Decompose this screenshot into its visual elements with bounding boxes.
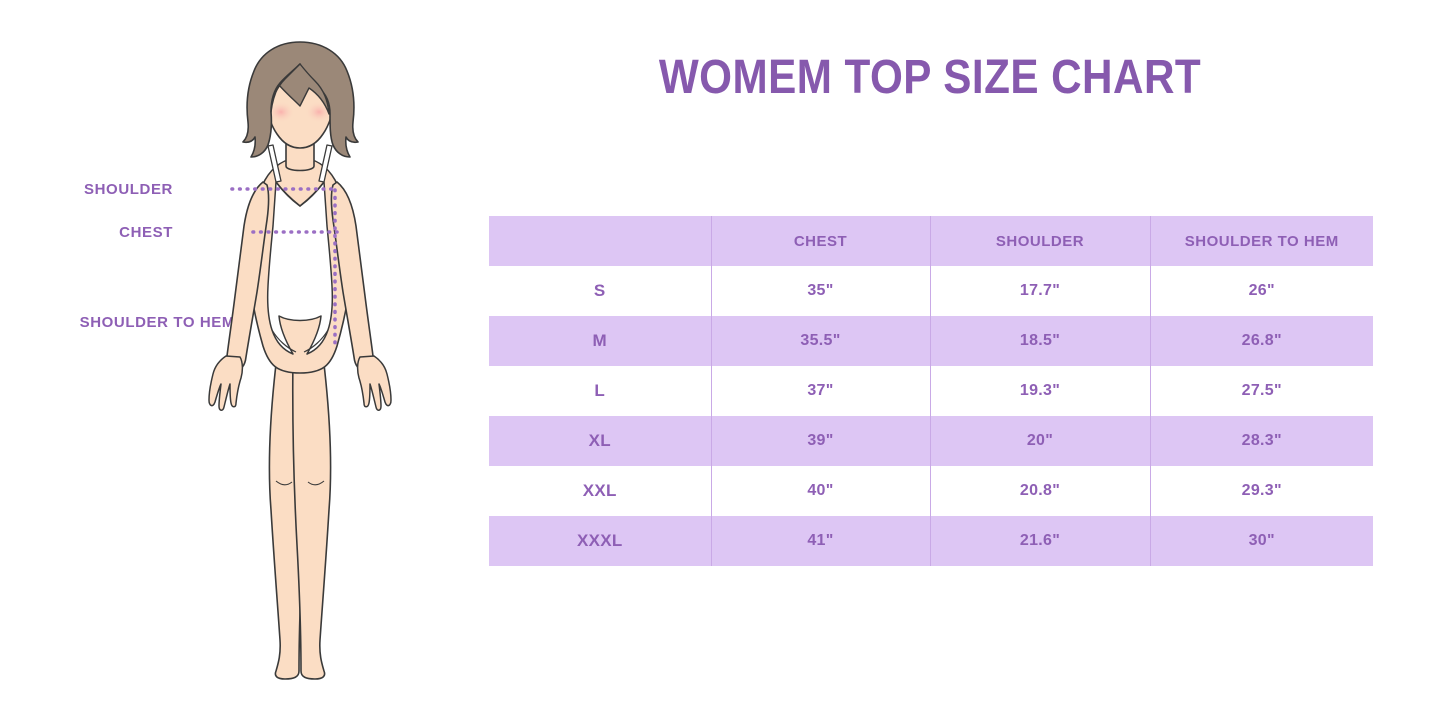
table-row: XXXL 41" 21.6" 30": [489, 516, 1373, 566]
cell-chest: 35": [711, 266, 930, 316]
column-header-size: [489, 216, 711, 266]
left-hand: [209, 356, 242, 410]
cell-shoulder-to-hem: 27.5": [1150, 366, 1373, 416]
table-body: S 35" 17.7" 26" M 35.5" 18.5" 26.8" L 37…: [489, 266, 1373, 566]
table-header-row: CHEST SHOULDER SHOULDER TO HEM: [489, 216, 1373, 266]
cell-chest: 39": [711, 416, 930, 466]
table-row: XL 39" 20" 28.3": [489, 416, 1373, 466]
cell-chest: 37": [711, 366, 930, 416]
measure-label-chest: CHEST: [119, 224, 173, 241]
cell-size: S: [489, 266, 711, 316]
page-title: WOMEM TOP SIZE CHART: [525, 50, 1335, 106]
cell-chest: 41": [711, 516, 930, 566]
cell-size: M: [489, 316, 711, 366]
illustration-panel: SHOULDER CHEST SHOULDER TO HEM: [0, 0, 470, 723]
table-row: M 35.5" 18.5" 26.8": [489, 316, 1373, 366]
cell-shoulder-to-hem: 26": [1150, 266, 1373, 316]
table-row: L 37" 19.3" 27.5": [489, 366, 1373, 416]
cell-shoulder-to-hem: 29.3": [1150, 466, 1373, 516]
cell-shoulder: 21.6": [930, 516, 1150, 566]
table-header: CHEST SHOULDER SHOULDER TO HEM: [489, 216, 1373, 266]
cell-shoulder: 20.8": [930, 466, 1150, 516]
size-chart-table: CHEST SHOULDER SHOULDER TO HEM S 35" 17.…: [489, 216, 1373, 566]
cell-shoulder: 17.7": [930, 266, 1150, 316]
table-row: S 35" 17.7" 26": [489, 266, 1373, 316]
cell-shoulder: 18.5": [930, 316, 1150, 366]
female-body-figure: [175, 40, 425, 690]
right-hand: [358, 356, 391, 410]
cell-shoulder-to-hem: 26.8": [1150, 316, 1373, 366]
cell-size: L: [489, 366, 711, 416]
measure-label-shoulder: SHOULDER: [84, 181, 173, 198]
column-header-shoulder-to-hem: SHOULDER TO HEM: [1150, 216, 1373, 266]
cell-shoulder-to-hem: 28.3": [1150, 416, 1373, 466]
body-group: [209, 42, 391, 679]
cell-size: XL: [489, 416, 711, 466]
cell-size: XXL: [489, 466, 711, 516]
cell-shoulder: 20": [930, 416, 1150, 466]
column-header-shoulder: SHOULDER: [930, 216, 1150, 266]
cell-size: XXXL: [489, 516, 711, 566]
cell-shoulder-to-hem: 30": [1150, 516, 1373, 566]
table-row: XXL 40" 20.8" 29.3": [489, 466, 1373, 516]
chart-panel: WOMEM TOP SIZE CHART CHEST SHOULDER SHOU…: [470, 0, 1445, 723]
cell-chest: 35.5": [711, 316, 930, 366]
cell-shoulder: 19.3": [930, 366, 1150, 416]
column-header-chest: CHEST: [711, 216, 930, 266]
cell-chest: 40": [711, 466, 930, 516]
